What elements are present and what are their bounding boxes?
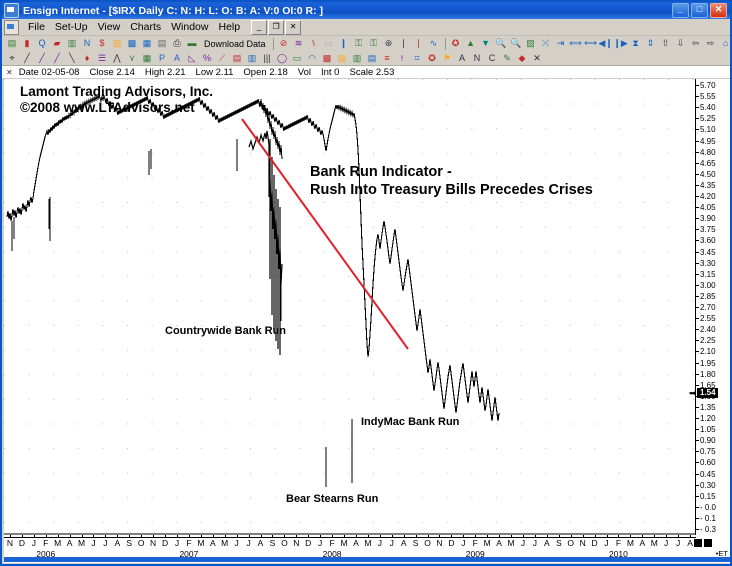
current-price-marker: 1.54: [697, 388, 718, 398]
x-axis-tick: O: [279, 538, 289, 548]
y-axis-tick: 4.95: [696, 137, 716, 146]
close-quote-icon[interactable]: ✕: [6, 68, 13, 77]
window-title: Ensign Internet - [$IRX Daily C: N: H: L…: [23, 5, 672, 17]
quote-page-icon[interactable]: ▤: [5, 37, 19, 50]
x-axis-tick: S: [411, 538, 421, 548]
compass-icon[interactable]: ✪: [449, 37, 463, 50]
x-axis-tick: A: [256, 538, 266, 548]
extended-line-icon[interactable]: ╱: [50, 52, 64, 65]
brand-watermark: Lamont Trading Advisors, Inc.©2008 www.L…: [20, 84, 213, 117]
quote-open: Open 2.18: [243, 67, 287, 78]
histogram-icon[interactable]: ▥: [65, 37, 79, 50]
home-icon[interactable]: ⌂: [719, 37, 732, 50]
quote-window-icon[interactable]: Q: [35, 37, 49, 50]
x-axis-tick: N: [291, 538, 301, 548]
arrow-right-icon[interactable]: ⇨: [704, 37, 718, 50]
menu-bar: File Set-Up View Charts Window Help _ ❐ …: [2, 19, 730, 36]
x-axis-tick: M: [53, 538, 63, 548]
spread-icon[interactable]: ▩: [125, 37, 139, 50]
print-icon[interactable]: ⎙: [170, 37, 184, 50]
y-axis-tick: 5.70: [696, 81, 716, 90]
dollar-icon[interactable]: $: [95, 37, 109, 50]
hourglass-icon[interactable]: ⧗: [629, 37, 643, 50]
x-axis-tick: F: [470, 538, 480, 548]
window-close-button[interactable]: ✕: [710, 3, 727, 18]
y-axis-tick: 3.90: [696, 214, 716, 223]
toolbar-separator: [273, 38, 274, 50]
x-axis-tick: A: [65, 538, 75, 548]
bar-pair-icon[interactable]: ⑊: [307, 37, 321, 50]
mdi-restore-button[interactable]: ❐: [268, 20, 284, 35]
triangle-down-icon[interactable]: ▼: [479, 37, 493, 50]
triangle-tool-icon[interactable]: ◺: [185, 52, 199, 65]
target-icon[interactable]: ⊛: [382, 37, 396, 50]
up-bar-icon[interactable]: ❘: [397, 37, 411, 50]
y-axis-tick: 1.05: [696, 425, 716, 434]
headline-line-1: Bank Run Indicator -: [310, 164, 452, 180]
text-c-icon[interactable]: C: [485, 52, 499, 65]
y-axis-tick: 5.25: [696, 114, 716, 123]
x-axis-tick: J: [602, 538, 612, 548]
compress-h-icon[interactable]: ⟷: [584, 37, 598, 50]
y-axis-tick: 0.75: [696, 447, 716, 456]
quote-int: Int 0: [321, 67, 340, 78]
andrews-pitchfork-icon[interactable]: A: [170, 52, 184, 65]
mdi-window-controls: _ ❐ ✕: [251, 20, 301, 35]
x-axis-tick: S: [124, 538, 134, 548]
x-axis-tick: N: [148, 538, 158, 548]
mdi-minimize-button[interactable]: _: [251, 20, 267, 35]
paint-icon[interactable]: ✎: [500, 52, 514, 65]
main-toolbar: ▤▮Q▰▥N$▨▩▦▤⎙▬Download Data⊘≋⑊▭❙⚿⚿⊛❘❘∿✪▲▼…: [2, 36, 730, 51]
x-axis-tick: J: [673, 538, 683, 548]
ellipse-icon[interactable]: ◯: [275, 52, 289, 65]
current-price-arrow: ➡: [689, 388, 697, 398]
step-back-icon[interactable]: ◀❙: [599, 37, 613, 50]
x-axis-tick: O: [423, 538, 433, 548]
price-chart-svg: [4, 79, 696, 535]
flag-icon[interactable]: ⚑: [440, 52, 454, 65]
menu-file[interactable]: File: [23, 20, 50, 34]
text-box-icon[interactable]: ▤: [365, 52, 379, 65]
wave-line-icon[interactable]: ∿: [427, 37, 441, 50]
application-window: Ensign Internet - [$IRX Daily C: N: H: L…: [0, 0, 732, 566]
x-axis-tick: N: [5, 538, 15, 548]
y-axis-tick: 3.00: [696, 281, 716, 290]
bear-stearns-annotation: Bear Stearns Run: [286, 493, 378, 506]
speed-lines-icon[interactable]: ▩: [320, 52, 334, 65]
x-axis-tick: M: [625, 538, 635, 548]
x-axis-tick: S: [267, 538, 277, 548]
app-icon: [4, 3, 19, 18]
y-axis-tick: 0.45: [696, 470, 716, 479]
x-axis-tick: J: [244, 538, 254, 548]
alert-icon[interactable]: ▮: [20, 37, 34, 50]
y-axis-tick: 1.80: [696, 370, 716, 379]
delete-icon[interactable]: ✕: [530, 52, 544, 65]
y-axis-tick: 3.30: [696, 259, 716, 268]
x-axis-tick: D: [160, 538, 170, 548]
x-axis-tick: D: [17, 538, 27, 548]
x-axis-tick: J: [518, 538, 528, 548]
x-axis-tick: M: [339, 538, 349, 548]
ray-icon[interactable]: ╱: [35, 52, 49, 65]
channel-icon[interactable]: ⋎: [125, 52, 139, 65]
x-axis-tick: A: [351, 538, 361, 548]
zoom-out-icon[interactable]: 🔍: [509, 37, 523, 50]
triangle-up-icon[interactable]: ▲: [464, 37, 478, 50]
y-axis-tick: 3.75: [696, 225, 716, 234]
drawing-toolbar: ⌖╱╱╱╲♦☰⋀⋎▦PA◺%⟋▤▥|||◯▭◠▩▨▥▤≡⟊⌗✪⚑ANC✎◆✕: [2, 51, 730, 66]
x-axis-tick: M: [363, 538, 373, 548]
measure-icon[interactable]: ⟊: [395, 52, 409, 65]
x-axis-tick: J: [172, 538, 182, 548]
x-axis-tick: J: [88, 538, 98, 548]
x-axis-tick: M: [506, 538, 516, 548]
document-icon: [4, 20, 19, 35]
y-axis-tick: 4.80: [696, 148, 716, 157]
y-axis-tick: 4.65: [696, 159, 716, 168]
x-axis-tick: J: [29, 538, 39, 548]
price-plot[interactable]: [4, 79, 696, 535]
y-axis-tick: 1.95: [696, 359, 716, 368]
bars-pattern-icon[interactable]: ▥: [350, 52, 364, 65]
x-axis-tick: J: [375, 538, 385, 548]
waves-icon[interactable]: ≋: [292, 37, 306, 50]
percent-icon[interactable]: %: [200, 52, 214, 65]
y-axis-tick: 3.45: [696, 248, 716, 257]
x-axis-tick: F: [184, 538, 194, 548]
step-fwd-icon[interactable]: ❙▶: [614, 37, 628, 50]
trendline-icon[interactable]: ╱: [20, 52, 34, 65]
x-axis-tick: J: [661, 538, 671, 548]
updown-icon[interactable]: ⇕: [644, 37, 658, 50]
x-axis-tick: F: [41, 538, 51, 548]
window-maximize-button[interactable]: □: [691, 3, 708, 18]
y-axis-tick: 5.10: [696, 125, 716, 134]
unlock-icon[interactable]: ⚿: [367, 37, 381, 50]
count-icon[interactable]: ⌗: [410, 52, 424, 65]
quote-status-bar: ✕ Date 02-05-08Close 2.14High 2.21Low 2.…: [2, 66, 730, 79]
download-data-button[interactable]: Download Data: [200, 39, 270, 49]
quote-low: Low 2.11: [196, 67, 234, 78]
y-axis-tick: 1.20: [696, 414, 716, 423]
y-axis-tick: 2.55: [696, 314, 716, 323]
x-axis-tick: S: [554, 538, 564, 548]
window-controls: _ □ ✕: [672, 3, 727, 18]
y-axis-tick: 4.05: [696, 203, 716, 212]
option-icon[interactable]: ▨: [110, 37, 124, 50]
fib-extension-icon[interactable]: ▥: [245, 52, 259, 65]
x-axis-tick: A: [637, 538, 647, 548]
x-axis-tick: O: [566, 538, 576, 548]
mdi-close-button[interactable]: ✕: [285, 20, 301, 35]
x-axis-tick: M: [77, 538, 87, 548]
brand-line-1: Lamont Trading Advisors, Inc.: [20, 84, 213, 99]
menu-window[interactable]: Window: [166, 20, 213, 34]
headline-line-2: Rush Into Treasury Bills Precedes Crises: [310, 182, 593, 198]
grid-icon[interactable]: ▦: [140, 52, 154, 65]
menu-charts[interactable]: Charts: [125, 20, 166, 34]
equals-icon[interactable]: ≡: [380, 52, 394, 65]
text-n-icon[interactable]: N: [470, 52, 484, 65]
y-axis-tick: - 0.1: [696, 514, 716, 523]
y-axis-tick: 2.70: [696, 303, 716, 312]
quote-scale: Scale 2.53: [349, 67, 394, 78]
x-axis-tick: D: [590, 538, 600, 548]
down-bar-icon[interactable]: ❘: [412, 37, 426, 50]
y-axis-tick: 3.15: [696, 270, 716, 279]
y-axis-tick: 2.10: [696, 347, 716, 356]
scroll-left-icon[interactable]: ⤫: [539, 37, 553, 50]
y-axis-tick: 3.60: [696, 236, 716, 245]
y-axis-tick: - 0.3: [696, 525, 716, 534]
dim-icon[interactable]: ▭: [322, 37, 336, 50]
y-axis-tick: 4.20: [696, 192, 716, 201]
quote-vol: Vol: [298, 67, 311, 78]
chart-headline: Bank Run Indicator -Rush Into Treasury B…: [310, 164, 593, 199]
quote-high: High 2.21: [145, 67, 186, 78]
pin-icon[interactable]: ♦: [80, 52, 94, 65]
y-axis-tick: 1.35: [696, 403, 716, 412]
y-axis-tick: 2.25: [696, 336, 716, 345]
x-axis-tick: D: [446, 538, 456, 548]
pointer-icon[interactable]: ⌖: [5, 52, 19, 65]
candles-icon[interactable]: ❙: [337, 37, 351, 50]
arrow-up-icon[interactable]: ⇧: [659, 37, 673, 50]
menu-view[interactable]: View: [93, 20, 126, 34]
fib-retrace-icon[interactable]: ▤: [230, 52, 244, 65]
no-entry-icon[interactable]: ⊘: [277, 37, 291, 50]
ndx-icon[interactable]: N: [80, 37, 94, 50]
y-axis[interactable]: ➡ 1.54 5.705.555.405.255.104.954.804.654…: [695, 79, 730, 535]
y-axis-tick: 0.60: [696, 458, 716, 467]
window-minimize-button[interactable]: _: [672, 3, 689, 18]
x-axis-tick: F: [613, 538, 623, 548]
x-axis-tick: J: [458, 538, 468, 548]
indymac-annotation: IndyMac Bank Run: [361, 416, 459, 429]
x-axis-tick: F: [327, 538, 337, 548]
y-axis-tick: 2.40: [696, 325, 716, 334]
x-axis-tick: A: [112, 538, 122, 548]
expand-h-icon[interactable]: ⟺: [569, 37, 583, 50]
toolbar-separator: [445, 38, 446, 50]
x-axis-tick: O: [136, 538, 146, 548]
arrow-left-icon[interactable]: ⇦: [689, 37, 703, 50]
y-axis-tick: 0.90: [696, 436, 716, 445]
x-axis-tick: M: [482, 538, 492, 548]
x-axis-tick: N: [578, 538, 588, 548]
arc-icon[interactable]: ◠: [305, 52, 319, 65]
x-axis-tick: J: [100, 538, 110, 548]
plot-gridlines: [4, 79, 696, 535]
x-axis-tick: D: [303, 538, 313, 548]
star-icon[interactable]: ✪: [425, 52, 439, 65]
x-axis-tick: J: [530, 538, 540, 548]
y-axis-tick: 4.35: [696, 181, 716, 190]
x-axis-tick: J: [232, 538, 242, 548]
refresh-chart-icon[interactable]: ▧: [524, 37, 538, 50]
regression-icon[interactable]: ▨: [335, 52, 349, 65]
eraser-icon[interactable]: ◆: [515, 52, 529, 65]
x-axis-tick: A: [685, 538, 695, 548]
parallel-icon[interactable]: P: [155, 52, 169, 65]
quote-close: Close 2.14: [89, 67, 134, 78]
chart-grid-icon[interactable]: ▦: [140, 37, 154, 50]
rectangle-icon[interactable]: ▭: [290, 52, 304, 65]
fan-icon[interactable]: ☰: [95, 52, 109, 65]
quote-date: Date 02-05-08: [19, 67, 80, 78]
news-icon[interactable]: ▰: [50, 37, 64, 50]
x-axis-tick: J: [387, 538, 397, 548]
x-axis-tick: A: [208, 538, 218, 548]
cycle-lines-icon[interactable]: |||: [260, 52, 274, 65]
menu-help[interactable]: Help: [213, 20, 245, 34]
scroll-right-icon[interactable]: ⇥: [554, 37, 568, 50]
x-axis-tick: M: [196, 538, 206, 548]
x-axis-tick: M: [220, 538, 230, 548]
y-axis-tick: 5.55: [696, 92, 716, 101]
x-axis-tick: A: [542, 538, 552, 548]
y-axis-tick: - 0.0: [696, 503, 716, 512]
gann-fan-icon[interactable]: ⋀: [110, 52, 124, 65]
slope-icon[interactable]: ⟋: [215, 52, 229, 65]
zoom-in-icon[interactable]: 🔍: [494, 37, 508, 50]
axis-endcap-icons[interactable]: [694, 539, 712, 547]
status-strip: [4, 557, 730, 562]
menu-setup[interactable]: Set-Up: [50, 20, 93, 34]
brand-line-2: ©2008 www.LTAdvisors.net: [20, 100, 195, 115]
arrow-down-icon[interactable]: ⇩: [674, 37, 688, 50]
x-axis-tick: J: [315, 538, 325, 548]
y-axis-tick: 5.40: [696, 103, 716, 112]
chart-area[interactable]: ➡ 1.54 5.705.555.405.255.104.954.804.654…: [4, 79, 730, 563]
x-axis-tick: M: [649, 538, 659, 548]
report-icon[interactable]: ▤: [155, 37, 169, 50]
x-axis-tick: N: [434, 538, 444, 548]
y-axis-tick: 2.85: [696, 292, 716, 301]
y-axis-tick: 0.30: [696, 481, 716, 490]
y-axis-tick: 4.50: [696, 170, 716, 179]
save-icon[interactable]: ▬: [185, 37, 199, 50]
segment-icon[interactable]: ╲: [65, 52, 79, 65]
x-axis-tick: A: [494, 538, 504, 548]
countrywide-annotation: Countrywide Bank Run: [165, 325, 286, 338]
lock-icon[interactable]: ⚿: [352, 37, 366, 50]
y-axis-tick: 0.15: [696, 492, 716, 501]
title-bar: Ensign Internet - [$IRX Daily C: N: H: L…: [2, 2, 730, 19]
text-a-icon[interactable]: A: [455, 52, 469, 65]
x-axis-tick: A: [399, 538, 409, 548]
